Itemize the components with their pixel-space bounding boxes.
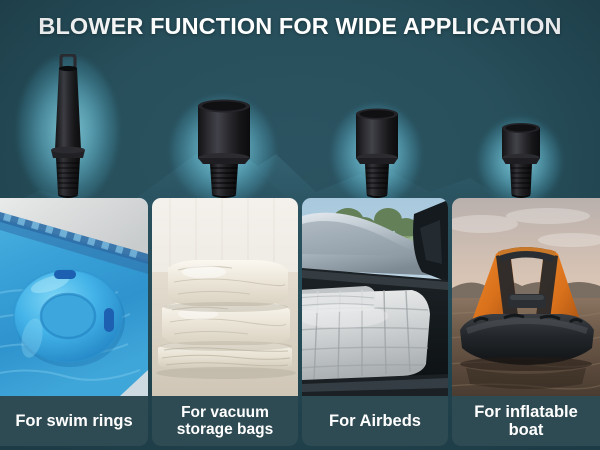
product-feature-poster: BLOWER FUNCTION FOR WIDE APPLICATION (0, 0, 600, 450)
application-panels: For swim rings (0, 198, 600, 450)
caption-vacuum-bags-text: For vacuum storage bags (177, 404, 273, 439)
caption-line-1: For vacuum (181, 404, 269, 421)
application-panel-inflatable-boat[interactable]: For inflatable boat (452, 198, 600, 450)
nozzle-tapered-cone (34, 54, 102, 200)
caption-swim-rings: For swim rings (0, 396, 148, 446)
nozzle-small-cylinder (492, 54, 550, 200)
application-panel-swim-rings[interactable]: For swim rings (0, 198, 148, 450)
application-panel-airbeds[interactable]: For Airbeds (302, 198, 448, 450)
caption-airbeds: For Airbeds (302, 396, 448, 446)
photo-inflatable-boat-on-water (452, 198, 600, 396)
nozzle-medium-cylinder (345, 54, 409, 200)
caption-line-2: storage bags (177, 421, 273, 438)
photo-swim-ring-in-pool (0, 198, 148, 396)
nozzle-row (0, 48, 600, 200)
photo-stacked-vacuum-storage-bags (152, 198, 298, 396)
caption-inflatable-boat: For inflatable boat (452, 396, 600, 446)
nozzle-wide-cylinder (185, 54, 263, 200)
photo-airbed-in-car-trunk (302, 198, 448, 396)
caption-vacuum-bags: For vacuum storage bags (152, 396, 298, 446)
application-panel-vacuum-bags[interactable]: For vacuum storage bags (152, 198, 298, 450)
page-title: BLOWER FUNCTION FOR WIDE APPLICATION (0, 0, 600, 52)
